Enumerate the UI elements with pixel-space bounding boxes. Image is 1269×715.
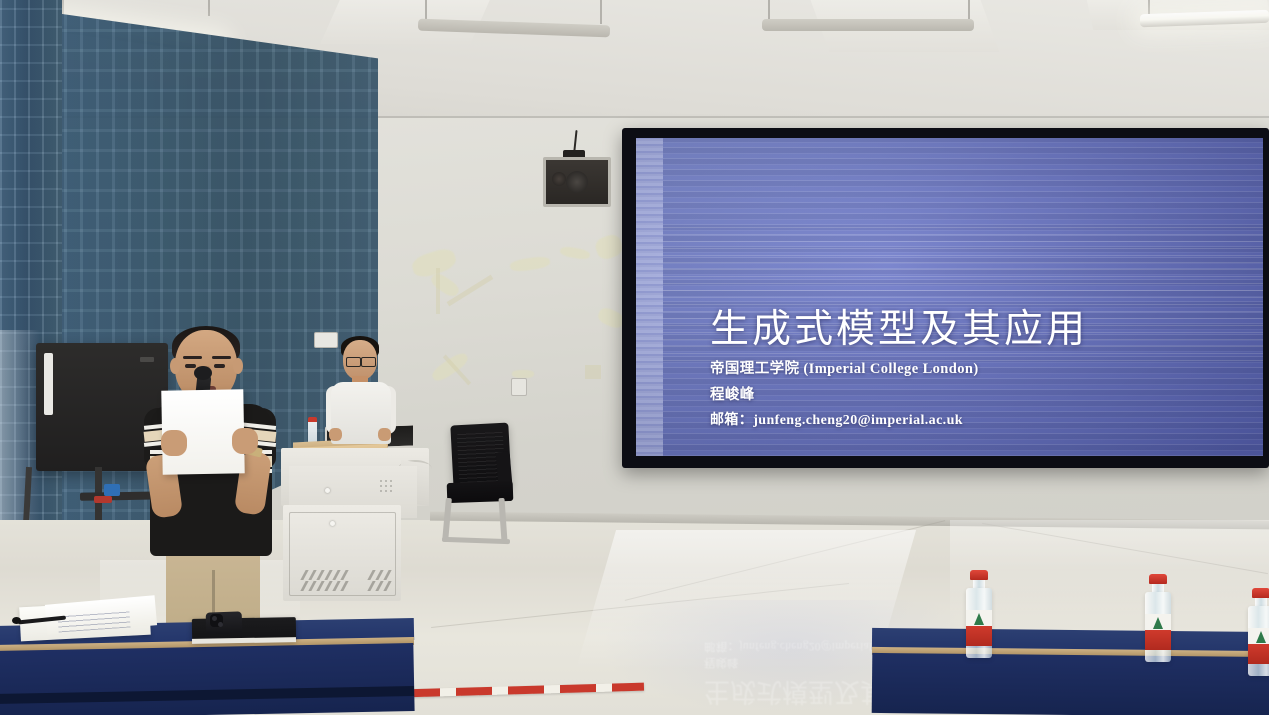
speaker-eye-left bbox=[185, 364, 196, 368]
speaker-hand-left bbox=[161, 430, 187, 456]
bottle-cap bbox=[1149, 574, 1167, 584]
student-hand-right bbox=[378, 428, 391, 441]
wall-scuff bbox=[512, 370, 534, 378]
phone-lens-icon bbox=[212, 616, 217, 621]
microphone-head-icon bbox=[194, 366, 212, 380]
desk-right-front bbox=[872, 653, 1269, 715]
water-bottle[interactable] bbox=[1248, 588, 1269, 676]
bottle-cap bbox=[1252, 588, 1269, 598]
lectern-cabinet-knob[interactable] bbox=[330, 521, 335, 526]
speaker-ear-left bbox=[170, 358, 180, 374]
light-hanger-rod bbox=[600, 0, 602, 24]
display-panel: 生成式模型及其应用 帝国理工学院 (Imperial College Londo… bbox=[636, 138, 1263, 456]
speaker-cone-icon bbox=[566, 171, 588, 193]
wall-speaker bbox=[543, 157, 611, 207]
light-hanger-rod bbox=[208, 0, 210, 16]
phone-lens-icon bbox=[218, 622, 223, 627]
bottle-tree-logo-icon bbox=[1153, 617, 1163, 629]
light-hanger-rod bbox=[1148, 0, 1150, 14]
student-glasses-right bbox=[361, 357, 376, 367]
wall-scuff bbox=[585, 365, 601, 379]
bottle-label-red bbox=[966, 626, 992, 646]
classroom-presentation-photo: 生成式模型及其应用 帝国理工学院 (Imperial College Londo… bbox=[0, 0, 1269, 715]
speaker-eyebrow-left bbox=[183, 356, 202, 359]
slide-text-block: 生成式模型及其应用 帝国理工学院 (Imperial College Londo… bbox=[710, 309, 1247, 434]
pen-cap bbox=[12, 617, 21, 624]
wall-scuff bbox=[436, 268, 440, 314]
bottle-label-red bbox=[1145, 630, 1171, 650]
bottle-body bbox=[1145, 592, 1171, 662]
podium-bottle-cap bbox=[308, 417, 317, 422]
bottle-neck bbox=[973, 580, 985, 588]
bottle-neck bbox=[1255, 598, 1267, 606]
bottle-label-red bbox=[1248, 644, 1269, 664]
light-hanger-rod bbox=[968, 0, 970, 20]
light-hanger-rod bbox=[768, 0, 770, 20]
bottle-neck bbox=[1152, 584, 1164, 592]
ceiling-tube-light-3 bbox=[762, 19, 974, 31]
water-bottle[interactable] bbox=[966, 570, 992, 658]
floor-reflection-sheen bbox=[950, 520, 1269, 630]
speaker-tweeter-icon bbox=[552, 172, 566, 186]
speaker-eye-right bbox=[214, 364, 225, 368]
lectern-knob[interactable] bbox=[325, 488, 330, 493]
water-bottle[interactable] bbox=[1145, 574, 1171, 662]
shelf-item-red-box bbox=[94, 496, 112, 503]
tv-logo bbox=[140, 357, 154, 362]
speaker-hand-right bbox=[232, 428, 258, 454]
slide-affiliation: 帝国理工学院 (Imperial College London) bbox=[710, 357, 1247, 378]
wall-outlet[interactable] bbox=[511, 378, 527, 396]
bottle-body bbox=[1248, 606, 1269, 676]
tv-side-panel bbox=[44, 353, 53, 415]
slide-title: 生成式模型及其应用 bbox=[710, 309, 1247, 351]
bottle-body bbox=[966, 588, 992, 658]
slide-presenter-name: 程峻峰 bbox=[710, 383, 1247, 404]
student-glasses-left bbox=[346, 357, 361, 367]
desk-left-front bbox=[0, 643, 415, 715]
presentation-display[interactable]: 生成式模型及其应用 帝国理工学院 (Imperial College Londo… bbox=[622, 128, 1269, 468]
bottle-cap bbox=[970, 570, 988, 580]
speaker-eyebrow-right bbox=[212, 356, 231, 359]
student-hand-left bbox=[329, 428, 342, 441]
bottle-tree-logo-icon bbox=[974, 613, 984, 625]
bottle-tree-logo-icon bbox=[1256, 631, 1266, 643]
slide-email: 邮箱：junfeng.cheng20@imperial.ac.uk bbox=[710, 409, 1247, 429]
shelf-item-blue-box bbox=[104, 484, 120, 496]
speaker-ear-right bbox=[233, 358, 243, 374]
wall-switch[interactable] bbox=[314, 332, 338, 348]
